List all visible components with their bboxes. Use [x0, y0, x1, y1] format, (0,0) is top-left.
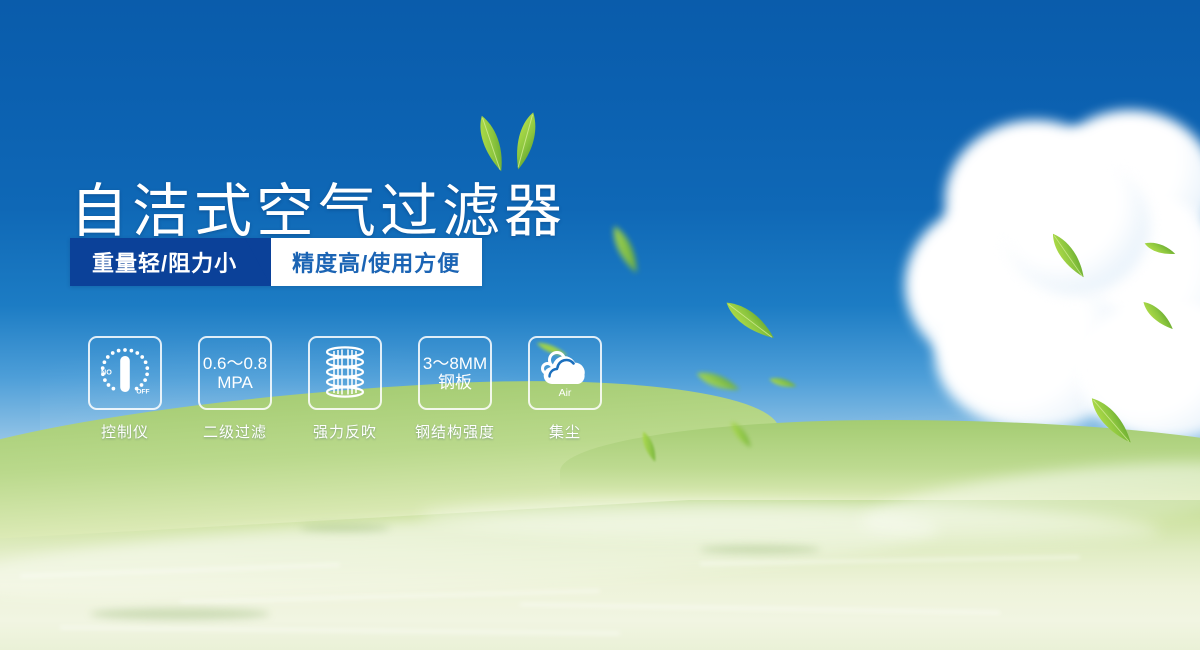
tagline-badge-separator [245, 238, 271, 286]
feature-text-line1: 0.6〜0.8 [203, 354, 267, 373]
feature-icon-box [308, 336, 382, 410]
feature-icon-box: 3〜8MM 钢板 [418, 336, 492, 410]
feature-text-line2: MPA [203, 373, 267, 392]
banner-content: 自洁式空气过滤器 重量轻/阻力小 精度高/使用方便 [0, 0, 1200, 650]
feature-icon-box: Air [528, 336, 602, 410]
feature-item-steel-strength[interactable]: 3〜8MM 钢板 钢结构强度 [400, 336, 510, 442]
tagline-badge-right: 精度高/使用方便 [270, 238, 482, 286]
feature-label: 二级过滤 [203, 421, 267, 442]
feature-label: 钢结构强度 [415, 421, 495, 442]
feature-label: 强力反吹 [313, 421, 377, 442]
product-banner: 自洁式空气过滤器 重量轻/阻力小 精度高/使用方便 [0, 0, 1200, 650]
filter-cartridge-icon [317, 344, 373, 402]
tagline-badge: 重量轻/阻力小 精度高/使用方便 [70, 238, 482, 286]
cloud-air-icon: Air [536, 346, 594, 400]
feature-text-line1: 3〜8MM [423, 354, 487, 373]
feature-label: 控制仪 [101, 421, 149, 442]
gauge-off-label: OFF [136, 389, 149, 396]
gauge-icon: NO OFF [94, 342, 156, 404]
steel-plate-text-icon: 3〜8MM 钢板 [423, 354, 487, 392]
feature-item-reverse-blow[interactable]: 强力反吹 [290, 336, 400, 442]
feature-item-control-instrument[interactable]: NO OFF 控制仪 [70, 336, 180, 442]
feature-item-dust-collection[interactable]: Air 集尘 [510, 336, 620, 442]
cloud-air-caption: Air [559, 387, 572, 399]
feature-label: 集尘 [549, 421, 581, 442]
feature-item-two-stage-filtration[interactable]: 0.6〜0.8 MPA 二级过滤 [180, 336, 290, 442]
feature-list: NO OFF 控制仪 0.6〜0.8 MPA 二级过滤 [70, 336, 620, 442]
feature-icon-box: NO OFF [88, 336, 162, 410]
tagline-badge-left: 重量轻/阻力小 [70, 238, 271, 286]
feature-text-line2: 钢板 [423, 373, 487, 392]
gauge-on-label: NO [101, 368, 112, 377]
page-title: 自洁式空气过滤器 [70, 183, 566, 241]
feature-icon-box: 0.6〜0.8 MPA [198, 336, 272, 410]
pressure-text-icon: 0.6〜0.8 MPA [203, 354, 267, 392]
